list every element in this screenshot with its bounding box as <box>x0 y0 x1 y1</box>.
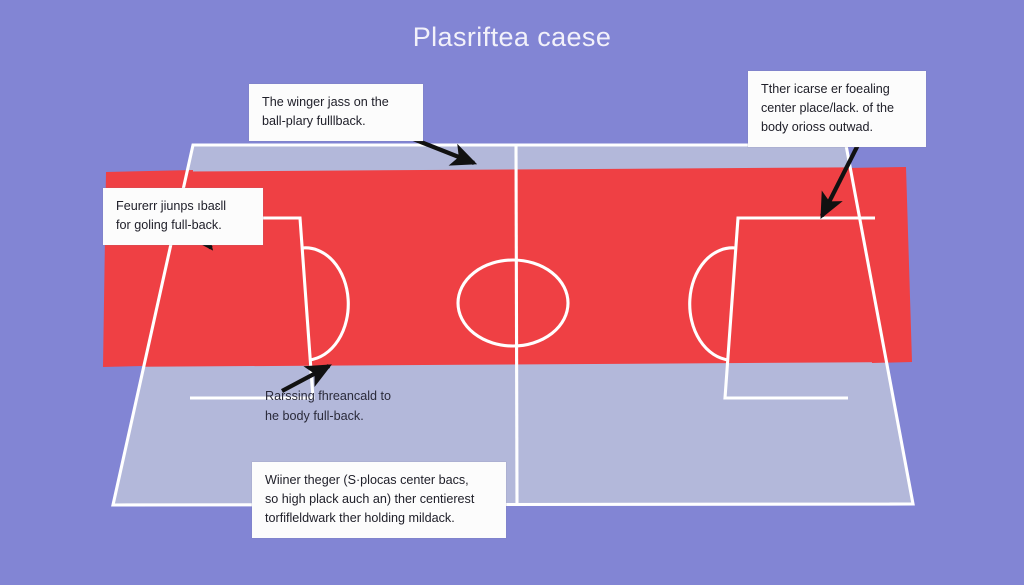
callout-line: body orioss outwad. <box>761 118 914 137</box>
callout-center-body: Tther icarse er foealing center place/la… <box>748 71 926 147</box>
callout-pressing-body: Rarssing fhreancald to he body full-back… <box>265 386 435 426</box>
halfway-line <box>516 145 517 504</box>
callout-line: Tther icarse er foealing <box>761 80 914 99</box>
callout-line: The winger jass on the <box>262 93 411 112</box>
callout-line: for goling full-back. <box>116 216 251 235</box>
callout-jumps-fullback: Feurerr jiunps ıbaɛll for goling full-ba… <box>103 188 263 245</box>
callout-line: torfifleldwark ther holding mildack. <box>265 509 494 528</box>
callout-line: ball-plary fulllback. <box>262 112 411 131</box>
callout-line: center place/lack. of the <box>761 99 914 118</box>
callout-winger-center: Wiiner theger (S·plocas center bacs, so … <box>252 462 506 538</box>
callout-line: Rarssing fhreancald to <box>265 386 435 406</box>
callout-line: Feurerr jiunps ıbaɛll <box>116 197 251 216</box>
callout-line: so high plack auch an) ther centierest <box>265 490 494 509</box>
page-title: Plasriftea caese <box>0 20 1024 54</box>
tactical-diagram-canvas: Plasriftea caese The winger jass on the … <box>0 0 1024 585</box>
callout-line: Wiiner theger (S·plocas center bacs, <box>265 471 494 490</box>
callout-line: he body full-back. <box>265 406 435 426</box>
callout-winger-fullback: The winger jass on the ball-plary fulllb… <box>249 84 423 141</box>
